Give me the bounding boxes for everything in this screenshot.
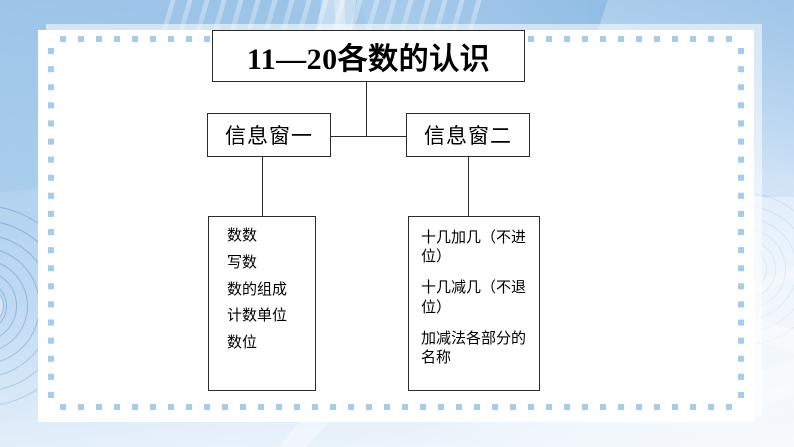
connector-horizontal-bar bbox=[331, 136, 407, 137]
slide-canvas: 11—20各数的认识 信息窗一 信息窗二 数数 写数 数的组成 计数单位 数位 … bbox=[0, 0, 794, 447]
connector-title-to-bar bbox=[366, 82, 367, 137]
list-item: 计数单位 bbox=[227, 309, 315, 325]
list-item: 数位 bbox=[227, 336, 315, 352]
list-item: 写数 bbox=[227, 256, 315, 272]
diagram-list-left: 数数 写数 数的组成 计数单位 数位 bbox=[208, 216, 316, 391]
concept-map: 11—20各数的认识 信息窗一 信息窗二 数数 写数 数的组成 计数单位 数位 … bbox=[0, 0, 794, 447]
list-item: 加减法各部分的名称 bbox=[421, 330, 533, 368]
diagram-title-node: 11—20各数的认识 bbox=[212, 30, 525, 82]
list-item: 数的组成 bbox=[227, 283, 315, 299]
list-item: 十几加几（不进位） bbox=[421, 229, 533, 267]
connector-win2-to-list bbox=[468, 157, 469, 216]
diagram-node-info-window-2: 信息窗二 bbox=[406, 113, 530, 157]
diagram-list-right: 十几加几（不进位） 十几减几（不退位） 加减法各部分的名称 bbox=[408, 216, 540, 391]
list-item: 数数 bbox=[227, 229, 315, 245]
diagram-node-info-window-1: 信息窗一 bbox=[207, 113, 331, 157]
connector-win1-to-list bbox=[262, 157, 263, 216]
list-item: 十几减几（不退位） bbox=[421, 279, 533, 317]
